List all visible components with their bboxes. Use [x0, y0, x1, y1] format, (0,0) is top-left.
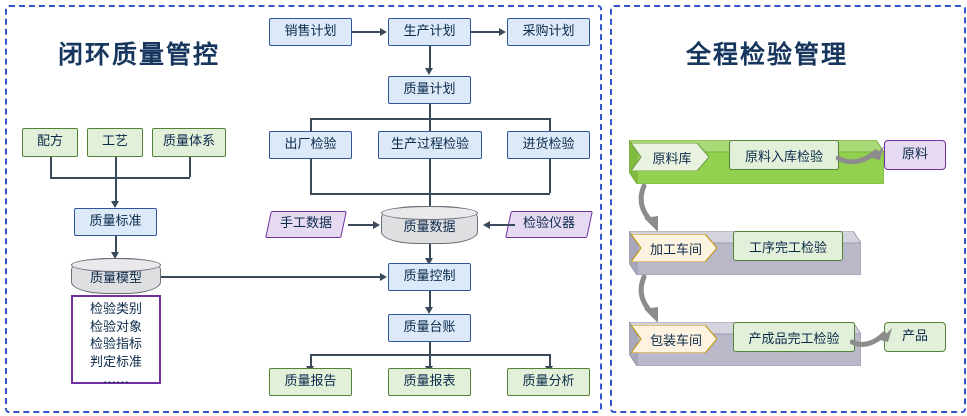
connector-device-to-qualitydata	[490, 224, 515, 226]
connector-bus-to-process	[429, 118, 431, 132]
arrowhead-manual-to-qualitydata	[373, 221, 380, 229]
arrowhead-production-to-purchase	[499, 28, 506, 36]
node-raw-inbound-inspection[interactable]: 原料入库检验	[729, 140, 839, 170]
model-item-2: 检验指标	[73, 336, 159, 354]
node-processing-workshop-label: 加工车间	[646, 239, 702, 258]
node-quality-system[interactable]: 质量体系	[152, 128, 226, 157]
arrow-inspection-to-product	[850, 318, 894, 358]
diagram-root: 闭环质量管控 全程检验管理 销售计划 生产计划 采购计划 质量计划 出厂检验 生…	[0, 0, 967, 416]
model-item-1: 检验对象	[73, 319, 159, 337]
node-process-completion-inspection[interactable]: 工序完工检验	[733, 231, 843, 261]
node-quality-report[interactable]: 质量报告	[269, 368, 352, 396]
arrowhead-control-to-ledger	[425, 307, 433, 314]
arrowhead-bus-to-standard	[111, 201, 119, 208]
arrowhead-model-to-control	[380, 273, 387, 281]
datastore-quality-data[interactable]: 质量数据	[381, 206, 478, 244]
connector-sales-to-production	[352, 31, 380, 33]
connector-factory-down	[310, 159, 312, 193]
node-production-plan[interactable]: 生产计划	[388, 18, 471, 46]
node-packaging-workshop[interactable]: 包装车间	[631, 325, 717, 353]
model-item-3: 判定标准	[73, 354, 159, 372]
node-process[interactable]: 工艺	[87, 128, 143, 157]
connector-bus-to-incoming	[549, 118, 551, 132]
node-formula[interactable]: 配方	[22, 128, 78, 157]
node-incoming-inspection[interactable]: 进货检验	[507, 131, 590, 159]
connector-collect-to-qualitydata	[429, 193, 431, 207]
node-inspection-device[interactable]: 检验仪器	[505, 211, 593, 238]
node-packaging-workshop-label: 包装车间	[646, 330, 702, 349]
connector-system-down	[189, 157, 191, 177]
connector-production-to-qualityplan	[429, 46, 431, 68]
connector-process-down	[429, 159, 431, 193]
panel-right-title: 全程检验管理	[686, 35, 848, 71]
node-quality-plan[interactable]: 质量计划	[388, 76, 471, 104]
model-item-4: ……	[73, 371, 159, 389]
node-raw-warehouse-label: 原料库	[648, 148, 691, 167]
connector-production-to-purchase	[471, 31, 499, 33]
node-finished-goods-inspection[interactable]: 产成品完工检验	[733, 322, 855, 352]
connector-qualityplan-down	[429, 104, 431, 118]
connector-sources-bus	[50, 177, 190, 179]
connector-ledger-down	[429, 342, 431, 354]
node-quality-sheet[interactable]: 质量报表	[388, 368, 471, 396]
node-manual-data-label: 手工数据	[280, 217, 332, 232]
node-raw-warehouse[interactable]: 原料库	[631, 143, 709, 171]
node-process-inspection[interactable]: 生产过程检验	[378, 131, 482, 159]
arrow-inspection-to-raw	[836, 136, 888, 176]
node-purchase-plan[interactable]: 采购计划	[507, 18, 590, 46]
connector-bus-to-standard	[115, 177, 117, 202]
node-factory-inspection[interactable]: 出厂检验	[269, 131, 352, 159]
connector-formula-down	[50, 157, 52, 177]
connector-manual-to-qualitydata	[348, 224, 373, 226]
node-quality-ledger[interactable]: 质量台账	[388, 314, 471, 342]
datastore-quality-model[interactable]: 质量模型	[71, 258, 161, 294]
connector-bus-to-factory	[310, 118, 312, 132]
node-sales-plan[interactable]: 销售计划	[269, 18, 352, 46]
node-quality-control[interactable]: 质量控制	[388, 263, 471, 291]
model-item-0: 检验类别	[73, 301, 159, 319]
panel-left-title: 闭环质量管控	[58, 35, 220, 71]
node-quality-analysis[interactable]: 质量分析	[507, 368, 590, 396]
node-result-raw-material[interactable]: 原料	[884, 140, 946, 170]
arrowhead-production-to-qualityplan	[425, 68, 433, 75]
node-manual-data[interactable]: 手工数据	[265, 211, 347, 238]
arrow-raw-to-processing	[636, 182, 676, 238]
node-processing-workshop[interactable]: 加工车间	[631, 234, 717, 262]
arrowhead-device-to-qualitydata	[483, 221, 490, 229]
connector-model-to-control	[161, 276, 383, 278]
node-quality-standard[interactable]: 质量标准	[74, 208, 157, 236]
connector-incoming-down	[549, 159, 551, 193]
connector-process-down	[115, 157, 117, 177]
list-model-items[interactable]: 检验类别 检验对象 检验指标 判定标准 ……	[71, 295, 161, 384]
node-inspection-device-label: 检验仪器	[523, 217, 575, 232]
arrow-processing-to-packaging	[636, 273, 676, 329]
arrowhead-sales-to-production	[380, 28, 387, 36]
